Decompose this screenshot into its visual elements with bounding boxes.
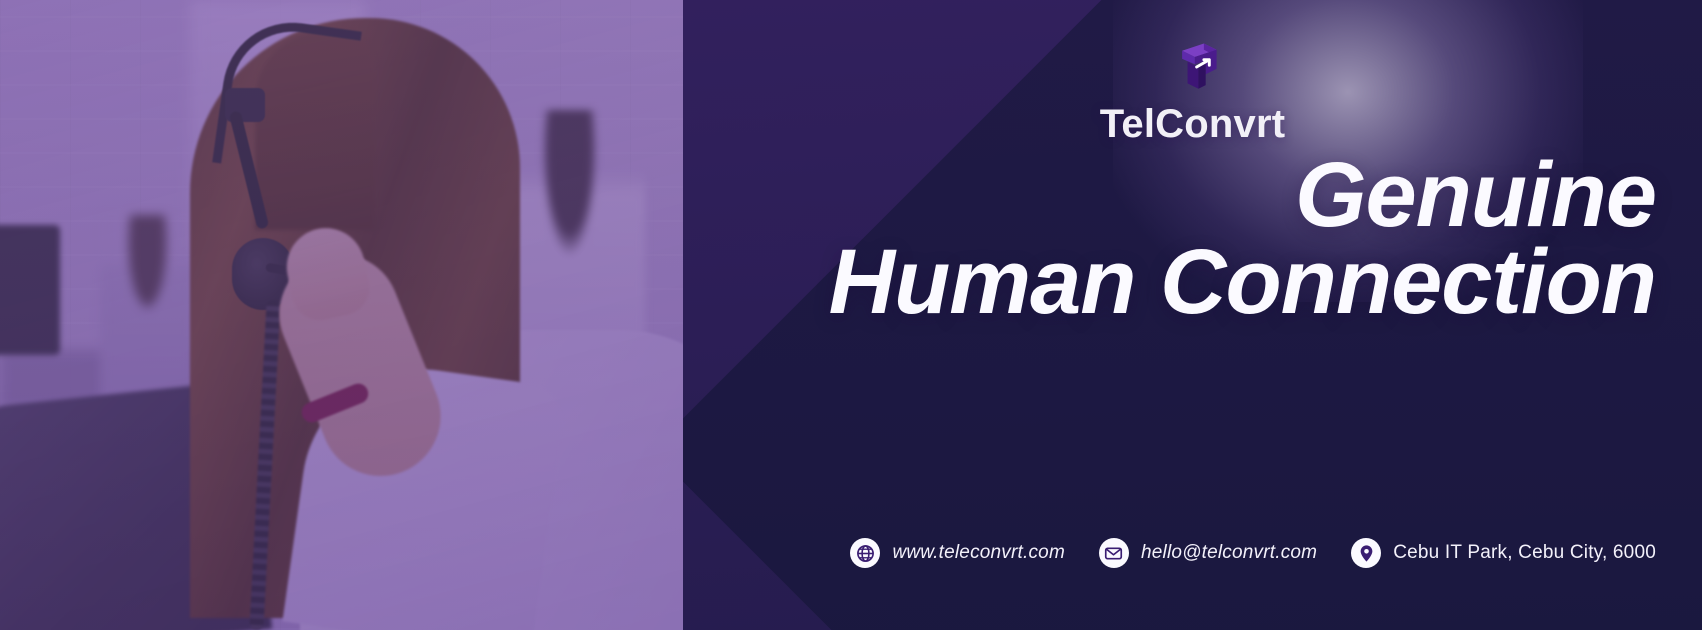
office-address: Cebu IT Park, Cebu City, 6000 [1393,542,1656,564]
hero-photo [0,0,683,630]
page-title: Genuine Human Connection [776,152,1656,327]
globe-icon [850,538,880,568]
headline-line-2: Human Connection [776,239,1656,326]
location-pin-icon [1351,538,1381,568]
contact-email[interactable]: hello@telconvrt.com [1099,538,1317,568]
contact-bar: www.teleconvrt.com hello@telconvrt.com [683,538,1656,568]
contact-website[interactable]: www.teleconvrt.com [850,538,1065,568]
email-address: hello@telconvrt.com [1141,542,1317,564]
envelope-icon [1099,538,1129,568]
website-url: www.teleconvrt.com [892,542,1065,564]
photo-purple-wash-overlay [0,0,683,630]
brand-lockup[interactable]: TelConvrt [683,38,1702,147]
marketing-banner: TelConvrt Genuine Human Connection BPO S… [0,0,1702,630]
content-panel: TelConvrt Genuine Human Connection BPO S… [683,0,1702,630]
isometric-t-arrow-cube-logo-icon [1164,38,1222,96]
contact-address[interactable]: Cebu IT Park, Cebu City, 6000 [1351,538,1656,568]
brand-wordmark: TelConvrt [1100,102,1286,147]
